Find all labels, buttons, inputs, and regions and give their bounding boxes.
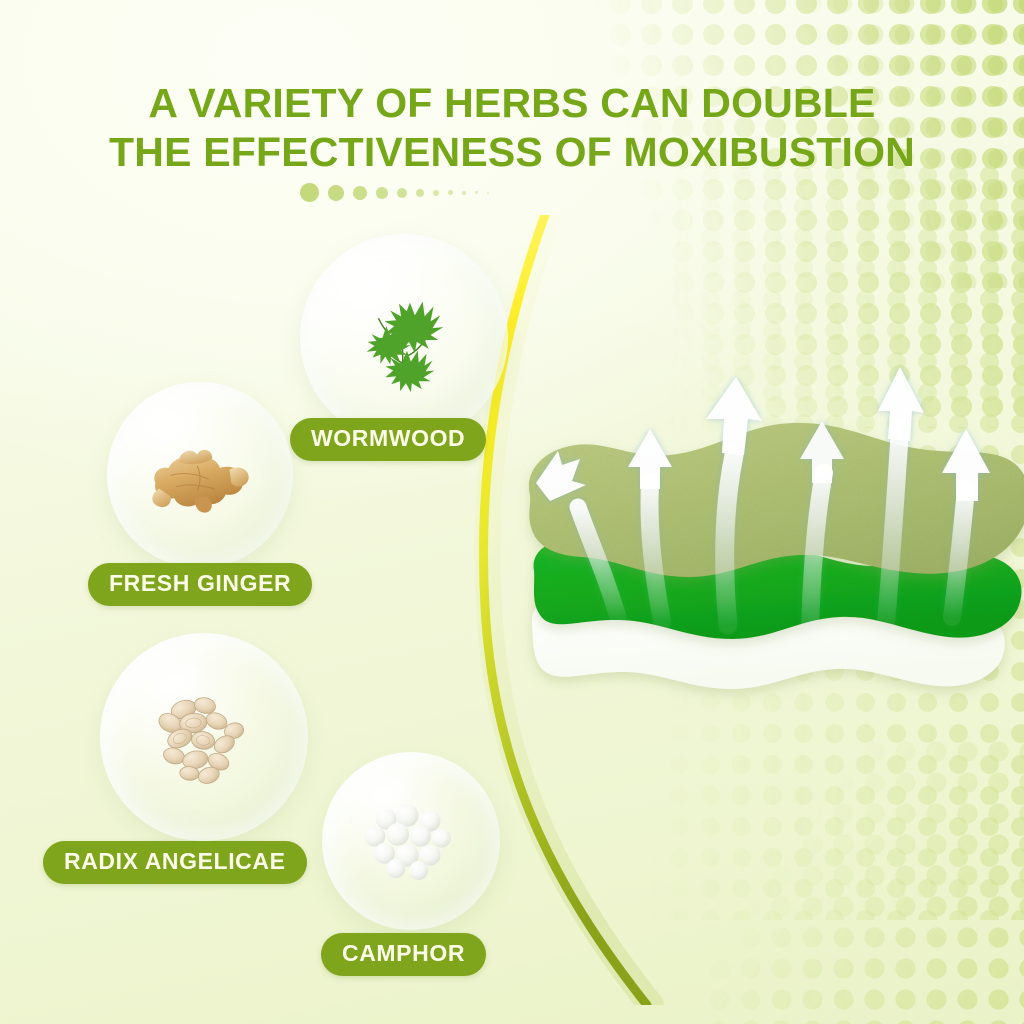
bubble-wormwood	[300, 234, 508, 442]
decorative-dot	[397, 188, 407, 198]
bubble-camphor	[322, 752, 500, 930]
decorative-dot	[448, 190, 453, 195]
page-title: A VARIETY OF HERBS CAN DOUBLE THE EFFECT…	[0, 79, 1024, 176]
wormwood-leaf-icon	[345, 279, 463, 397]
decorative-dot	[376, 187, 388, 199]
decorative-dot	[353, 186, 367, 200]
decorative-dot	[300, 183, 319, 202]
label-camphor: CAMPHOR	[321, 933, 486, 976]
angelica-slices-icon	[141, 684, 267, 791]
bubble-radix-angelicae	[100, 633, 308, 841]
ginger-root-icon	[138, 428, 262, 523]
label-fresh-ginger: FRESH GINGER	[88, 563, 312, 606]
decorative-dot-row	[300, 183, 498, 202]
bubble-fresh-ginger	[107, 382, 293, 568]
decorative-dot	[433, 190, 439, 196]
label-wormwood: WORMWOOD	[290, 418, 486, 461]
poster-canvas: A VARIETY OF HERBS CAN DOUBLE THE EFFECT…	[0, 0, 1024, 1024]
decorative-dot	[475, 191, 478, 194]
decorative-dot	[487, 192, 489, 194]
label-radix-angelicae: RADIX ANGELICAE	[43, 841, 307, 884]
decorative-dot	[328, 185, 344, 201]
decorative-dot	[416, 189, 424, 197]
camphor-balls-icon	[354, 798, 468, 884]
decorative-dot	[462, 191, 466, 195]
moxibustion-patch-diagram	[500, 355, 1024, 795]
